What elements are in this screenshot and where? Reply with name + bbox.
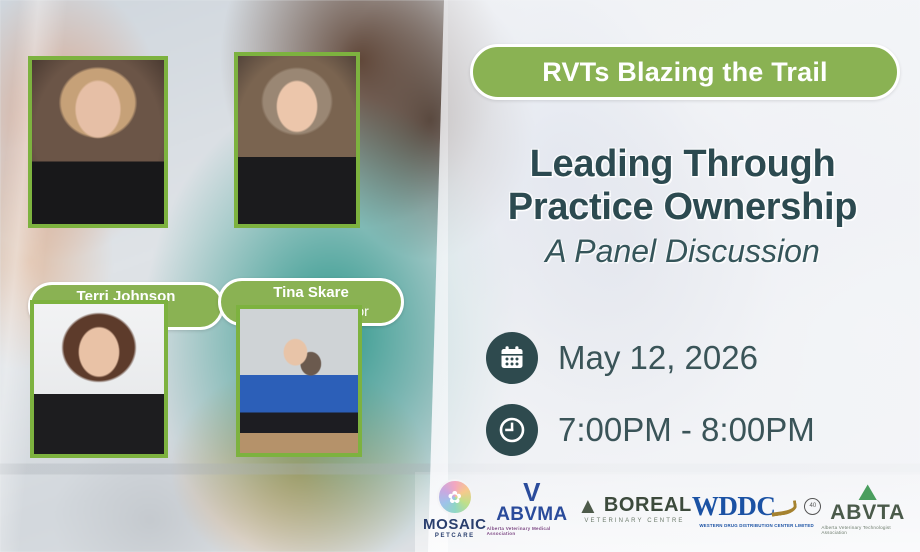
- sponsor-logo-bar: ✿ MOSAIC PETCARE V ABVMA Alberta Veterin…: [415, 472, 920, 552]
- sponsor-tagline: VETERINARY CENTRE: [584, 518, 684, 524]
- speaker-portrait: [238, 56, 356, 224]
- speaker-portrait: [240, 309, 358, 453]
- pine-tree-icon: ▲: [577, 495, 599, 517]
- event-time-row: 7:00PM - 8:00PM: [486, 404, 815, 456]
- mountain-caduceus-icon: ⛰: [858, 483, 877, 501]
- subtitle: A Panel Discussion: [455, 231, 910, 273]
- speaker-portrait: [32, 60, 164, 224]
- header-banner: RVTs Blazing the Trail: [470, 44, 900, 100]
- title-line-2: Practice Ownership: [455, 186, 910, 229]
- sponsor-name: ABVTA: [830, 501, 905, 525]
- sponsor-name: MOSAIC: [423, 516, 487, 533]
- caduceus-v-icon: V: [523, 482, 540, 503]
- sponsor-tagline: Alberta Veterinary Medical Association: [487, 526, 577, 536]
- event-date: May 12, 2026: [558, 339, 758, 377]
- speaker-name: Tina Skare: [273, 284, 349, 301]
- wddc-lockup: WDDC 40: [692, 491, 822, 522]
- sponsor-logo-boreal: ▲ BOREAL VETERINARY CENTRE: [577, 494, 692, 524]
- swoosh-icon: [771, 500, 799, 516]
- sponsor-logo-abvta: ⛰ ABVTA Alberta Veterinary Technologist …: [821, 483, 914, 535]
- sponsor-logo-abvma: V ABVMA Alberta Veterinary Medical Assoc…: [487, 482, 577, 535]
- speaker-photo-frame: [234, 52, 360, 228]
- anniversary-seal-icon: 40: [804, 498, 821, 515]
- sponsor-logo-wddc: WDDC 40 WESTERN DRUG DISTRIBUTION CENTER…: [692, 491, 822, 528]
- event-details: May 12, 2026 7:00PM - 8:00PM: [486, 332, 815, 456]
- sponsor-name: WDDC: [692, 491, 776, 522]
- paw-glyph: ✿: [448, 489, 462, 506]
- sponsor-tagline: WESTERN DRUG DISTRIBUTION CENTER LIMITED: [699, 523, 814, 528]
- sponsor-logo-mosaic: ✿ MOSAIC PETCARE: [423, 479, 487, 539]
- clock-icon: [486, 404, 538, 456]
- sponsor-tagline: PETCARE: [435, 533, 475, 539]
- title-block: Leading Through Practice Ownership A Pan…: [455, 143, 910, 272]
- sponsor-tagline: Alberta Veterinary Technologist Associat…: [821, 525, 914, 535]
- sponsor-name: ABVMA: [496, 504, 567, 526]
- speaker-photo-frame: [236, 305, 362, 457]
- event-time: 7:00PM - 8:00PM: [558, 411, 815, 449]
- speaker-photo-frame: [30, 300, 168, 458]
- title-line-1: Leading Through: [455, 143, 910, 186]
- header-banner-label: RVTs Blazing the Trail: [542, 57, 827, 88]
- webinar-promo-poster: RVTs Blazing the Trail Leading Through P…: [0, 0, 920, 552]
- calendar-icon: [486, 332, 538, 384]
- speaker-portrait: [34, 304, 164, 454]
- boreal-lockup: ▲ BOREAL: [577, 494, 692, 517]
- paw-rosette-icon: ✿: [437, 479, 473, 515]
- event-date-row: May 12, 2026: [486, 332, 815, 384]
- sponsor-name: BOREAL: [604, 494, 692, 517]
- speaker-photo-frame: [28, 56, 168, 228]
